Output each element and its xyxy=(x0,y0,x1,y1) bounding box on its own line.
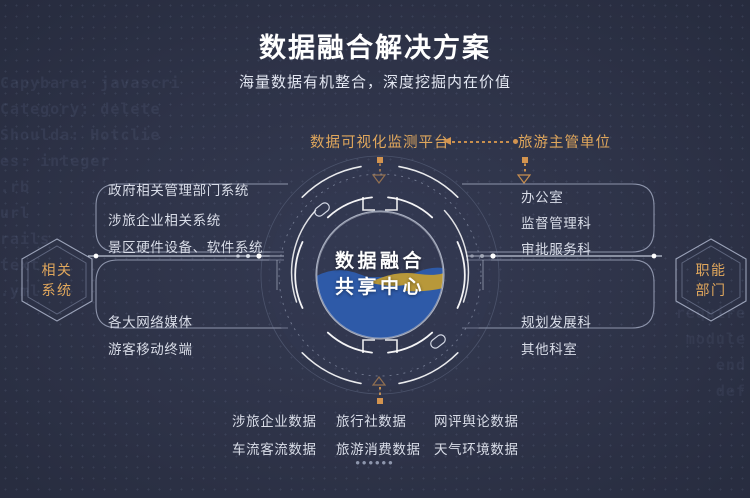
bottom-item-0-1: 旅行社数据 xyxy=(336,410,407,430)
left-item-3: 各大网络媒体 xyxy=(108,311,193,331)
bottom-item-0-0: 涉旅企业数据 xyxy=(232,410,317,430)
bottom-item-0-2: 网评舆论数据 xyxy=(434,410,519,430)
hex-right-line1: 职能 xyxy=(696,260,727,280)
dotted-arrow-connector xyxy=(452,141,512,143)
hex-right-line2: 部门 xyxy=(696,280,727,300)
hex-functional-departments-label: 职能 部门 xyxy=(672,236,750,324)
left-item-2: 景区硬件设备、软件系统 xyxy=(108,236,263,256)
page-title: 数据融合解决方案 xyxy=(0,26,750,65)
right-item-2: 审批服务科 xyxy=(521,238,592,258)
page-subtitle: 海量数据有机整合，深度挖掘内在价值 xyxy=(0,71,750,92)
hex-left-line2: 系统 xyxy=(42,280,73,300)
hex-related-systems-label: 相关 系统 xyxy=(18,236,96,324)
right-item-3: 规划发展科 xyxy=(521,311,592,331)
top-label-row: 数据可视化监测平台 旅游主管单位 xyxy=(0,131,750,153)
right-item-0: 办公室 xyxy=(521,186,563,206)
hex-functional-departments[interactable]: 职能 部门 xyxy=(672,236,750,324)
bottom-ellipsis: •••••• xyxy=(0,455,750,470)
left-item-0: 政府相关管理部门系统 xyxy=(108,179,249,199)
label-visualization-platform: 数据可视化监测平台 xyxy=(310,131,450,152)
hex-related-systems[interactable]: 相关 系统 xyxy=(18,236,96,324)
right-item-1: 监督管理科 xyxy=(521,212,592,232)
hex-left-line1: 相关 xyxy=(42,260,73,280)
right-item-4: 其他科室 xyxy=(521,338,577,358)
data-fusion-core: 数据融合 共享中心 xyxy=(255,152,505,398)
left-item-1: 涉旅企业相关系统 xyxy=(108,209,221,229)
label-tourism-authority: 旅游主管单位 xyxy=(518,131,611,152)
infographic-canvas: Capybara: javascri Category: delete Shou… xyxy=(0,0,750,498)
left-item-4: 游客移动终端 xyxy=(108,338,193,358)
